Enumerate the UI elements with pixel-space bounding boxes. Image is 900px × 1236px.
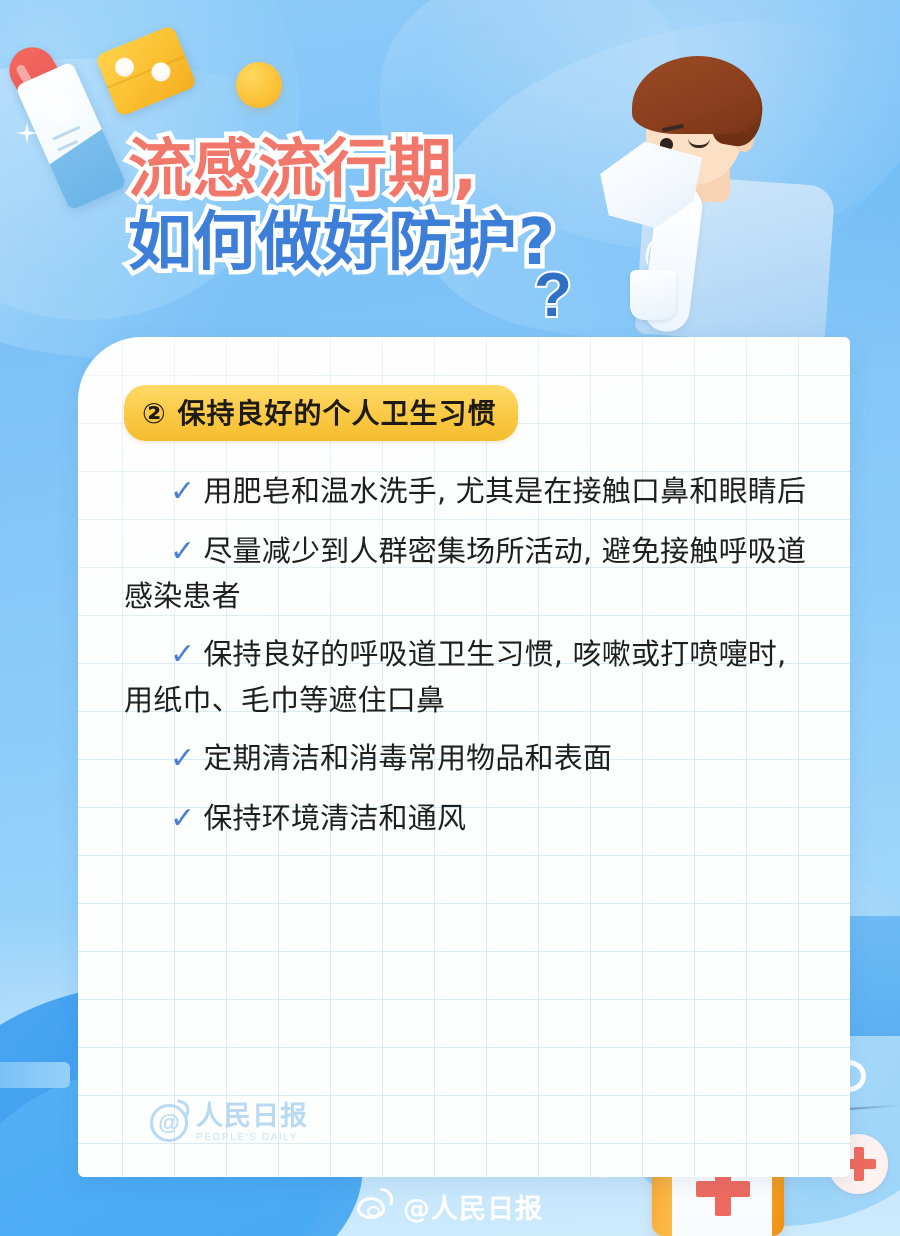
boy-hair bbox=[632, 56, 760, 134]
list-item-text: 用肥皂和温水洗手, 尤其是在接触口鼻和眼睛后 bbox=[203, 474, 806, 508]
section-badge: ② 保持良好的个人卫生习惯 bbox=[124, 385, 518, 441]
white-sparkle-icon bbox=[16, 122, 38, 144]
medicine-box-icon bbox=[15, 61, 127, 210]
check-icon: ✓ bbox=[170, 801, 195, 836]
check-icon: ✓ bbox=[170, 474, 195, 509]
check-icon: ✓ bbox=[170, 534, 195, 569]
cup-icon bbox=[630, 270, 676, 320]
title-line-2: 如何做好防护? bbox=[128, 209, 556, 278]
list-item: ✓尽量减少到人群密集场所活动, 避免接触呼吸道感染患者 bbox=[124, 529, 820, 619]
section-badge-number: ② bbox=[142, 397, 167, 430]
list-item-text: 尽量减少到人群密集场所活动, 避免接触呼吸道感染患者 bbox=[124, 534, 806, 614]
weibo-icon bbox=[357, 1191, 391, 1221]
at-symbol-icon: @ bbox=[150, 1104, 188, 1142]
footer-handle: @人民日报 bbox=[403, 1187, 543, 1226]
list-item: ✓用肥皂和温水洗手, 尤其是在接触口鼻和眼睛后 bbox=[124, 469, 820, 515]
check-icon: ✓ bbox=[170, 741, 195, 776]
peoples-daily-watermark: @ 人民日报 PEOPLE'S DAILY bbox=[150, 1103, 308, 1143]
list-item: ✓定期清洁和消毒常用物品和表面 bbox=[124, 736, 820, 782]
sneezing-boy-illustration: ? bbox=[588, 34, 838, 334]
list-item-text: 保持良好的呼吸道卫生习惯, 咳嗽或打喷嚏时, 用纸巾、毛巾等遮住口鼻 bbox=[124, 637, 786, 717]
capsule-pill-icon bbox=[1, 39, 89, 145]
watermark-name-en: PEOPLE'S DAILY bbox=[196, 1133, 308, 1143]
orange-circle-icon bbox=[236, 62, 282, 108]
content-card: ② 保持良好的个人卫生习惯 ✓用肥皂和温水洗手, 尤其是在接触口鼻和眼睛后 ✓尽… bbox=[78, 337, 850, 1177]
title-line-1: 流感流行期, bbox=[128, 136, 556, 205]
list-item: ✓保持环境清洁和通风 bbox=[124, 796, 820, 842]
bullet-list: ✓用肥皂和温水洗手, 尤其是在接触口鼻和眼睛后 ✓尽量减少到人群密集场所活动, … bbox=[124, 469, 820, 841]
list-item-text: 定期清洁和消毒常用物品和表面 bbox=[203, 741, 612, 775]
check-icon: ✓ bbox=[170, 637, 195, 672]
list-item: ✓保持良好的呼吸道卫生习惯, 咳嗽或打喷嚏时, 用纸巾、毛巾等遮住口鼻 bbox=[124, 632, 820, 722]
background-tab-left bbox=[0, 1062, 70, 1088]
blister-pack-icon bbox=[95, 25, 198, 118]
list-item-text: 保持环境清洁和通风 bbox=[203, 801, 466, 835]
footer-bar: @人民日报 bbox=[0, 1176, 900, 1236]
page-title: 流感流行期, 如何做好防护? bbox=[128, 136, 556, 278]
section-badge-label: 保持良好的个人卫生习惯 bbox=[177, 397, 496, 430]
watermark-name-cn: 人民日报 bbox=[196, 1103, 308, 1130]
poster-root: ? 流感流行期, 如何做好防护? ② 保持良好的个人卫生习惯 ✓用肥皂和温水洗手… bbox=[0, 0, 900, 1236]
